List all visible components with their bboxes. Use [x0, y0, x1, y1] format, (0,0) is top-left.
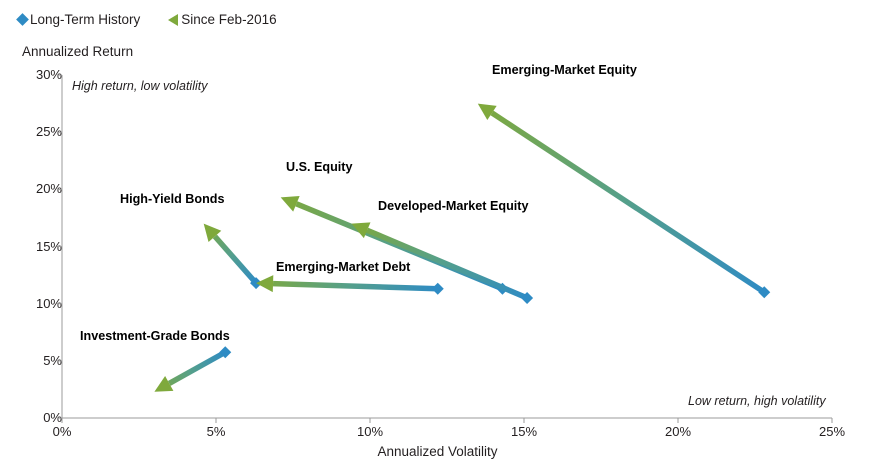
- arrow-shaft: [215, 236, 256, 283]
- series-label-investment-grade-bonds: Investment-Grade Bonds: [80, 330, 230, 343]
- series-label-u-s-equity: U.S. Equity: [286, 161, 352, 174]
- series-label-emerging-market-equity: Emerging-Market Equity: [492, 64, 637, 77]
- arrow-shaft: [273, 284, 438, 289]
- axes-layer: [57, 75, 832, 423]
- scatter-chart: Long-Term History Since Feb-2016 Annuali…: [0, 0, 875, 468]
- series-label-developed-market-equity: Developed-Market Equity: [378, 200, 528, 213]
- arrow-shaft: [169, 352, 225, 383]
- data-arrow[interactable]: [256, 275, 444, 295]
- data-arrow[interactable]: [204, 224, 262, 289]
- series-label-emerging-market-debt: Emerging-Market Debt: [276, 261, 410, 274]
- diamond-marker-long-term-history: [432, 283, 444, 295]
- arrowhead-since-feb-2016: [256, 275, 273, 292]
- series-label-high-yield-bonds: High-Yield Bonds: [120, 193, 224, 206]
- arrow-shaft: [492, 113, 764, 292]
- data-arrow[interactable]: [154, 346, 231, 391]
- data-arrows-layer: [154, 104, 770, 392]
- plot-area: [0, 0, 875, 468]
